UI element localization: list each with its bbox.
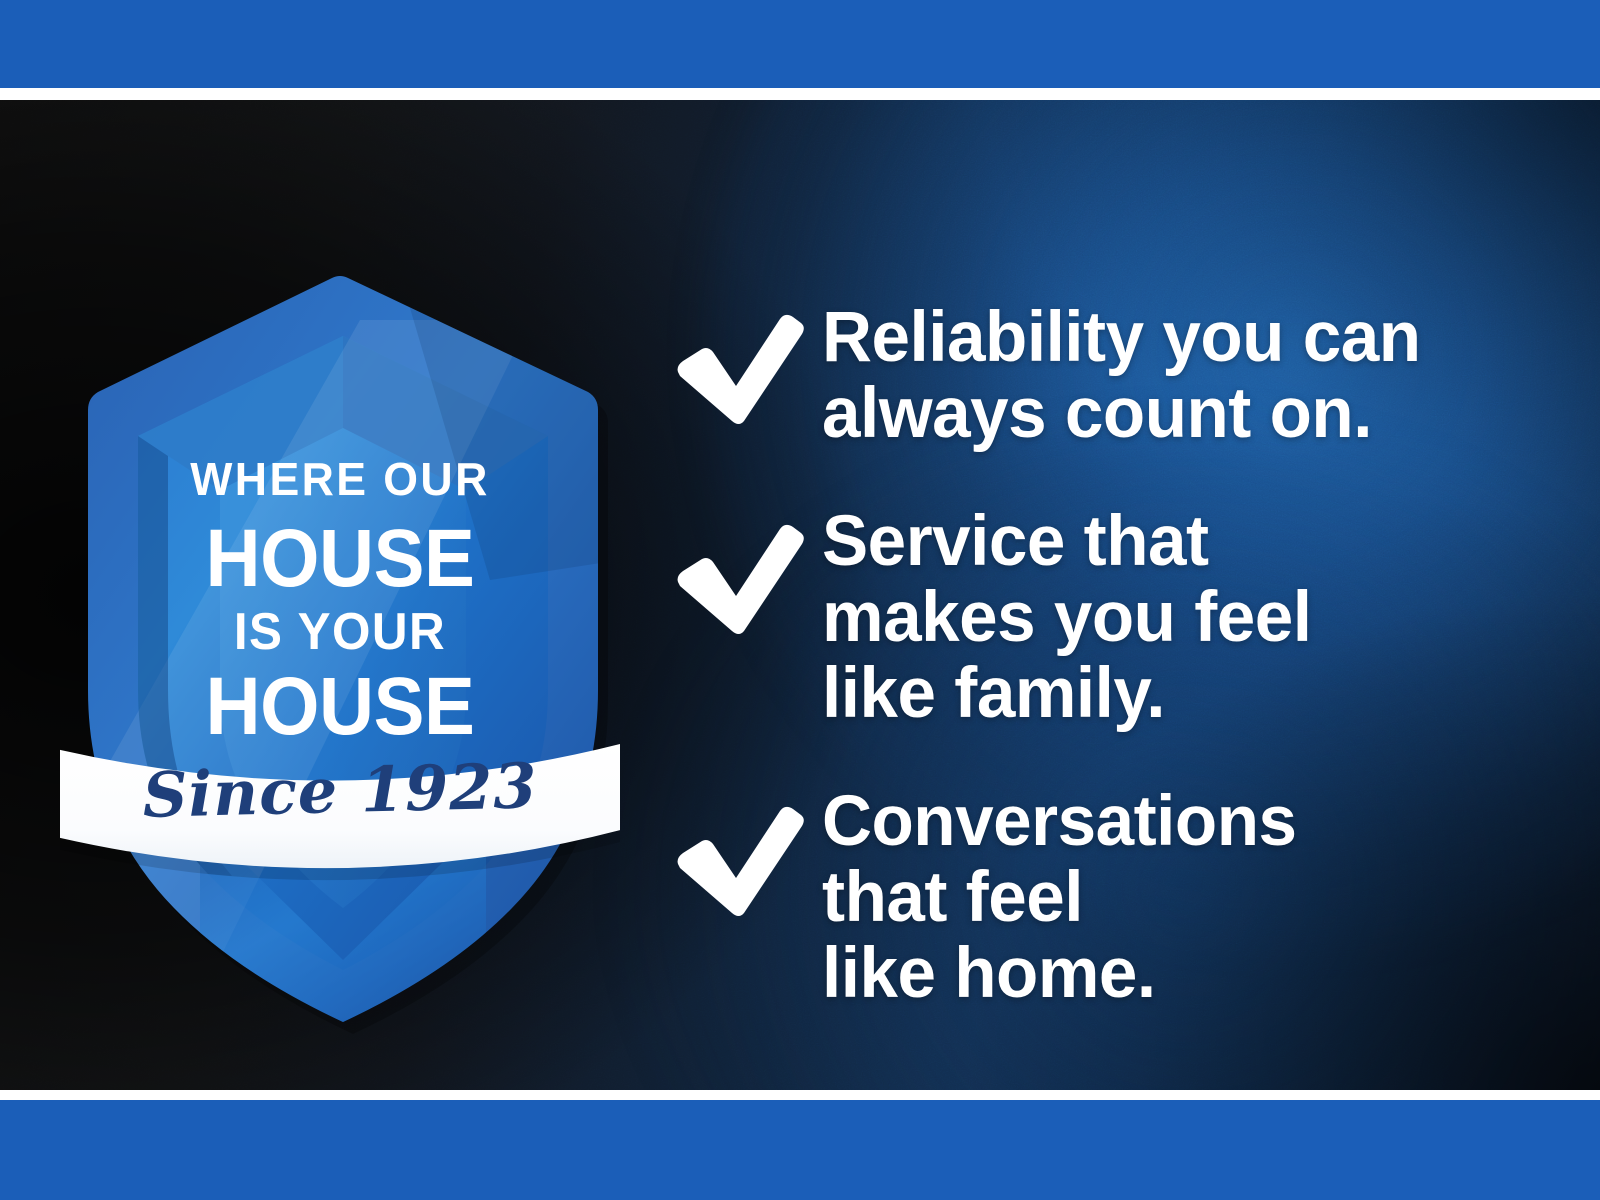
list-item: Reliability you can always count on. [672, 300, 1512, 452]
company-shield-logo: Where Our House Is Your House Since 1923 [60, 260, 620, 1040]
check-icon-wrap [672, 504, 822, 636]
top-brand-bar [0, 0, 1600, 88]
list-item-label: Conversations that feel like home. [822, 784, 1495, 1012]
list-item-label: Reliability you can always count on. [822, 300, 1495, 452]
list-item: Service that makes you feel like family. [672, 504, 1512, 732]
check-icon-wrap [672, 784, 822, 918]
list-item: Conversations that feel like home. [672, 784, 1512, 1012]
main-stage: Where Our House Is Your House Since 1923… [0, 100, 1600, 1090]
benefits-list: Reliability you can always count on. Ser… [672, 300, 1512, 1064]
list-item-label: Service that makes you feel like family. [822, 504, 1495, 732]
check-icon [672, 806, 804, 918]
check-icon [672, 524, 804, 636]
check-icon-wrap [672, 300, 822, 426]
promo-graphic: Where Our House Is Your House Since 1923… [0, 0, 1600, 1200]
bottom-brand-bar [0, 1100, 1600, 1200]
shield-graphic [60, 260, 620, 1040]
check-icon [672, 314, 804, 426]
